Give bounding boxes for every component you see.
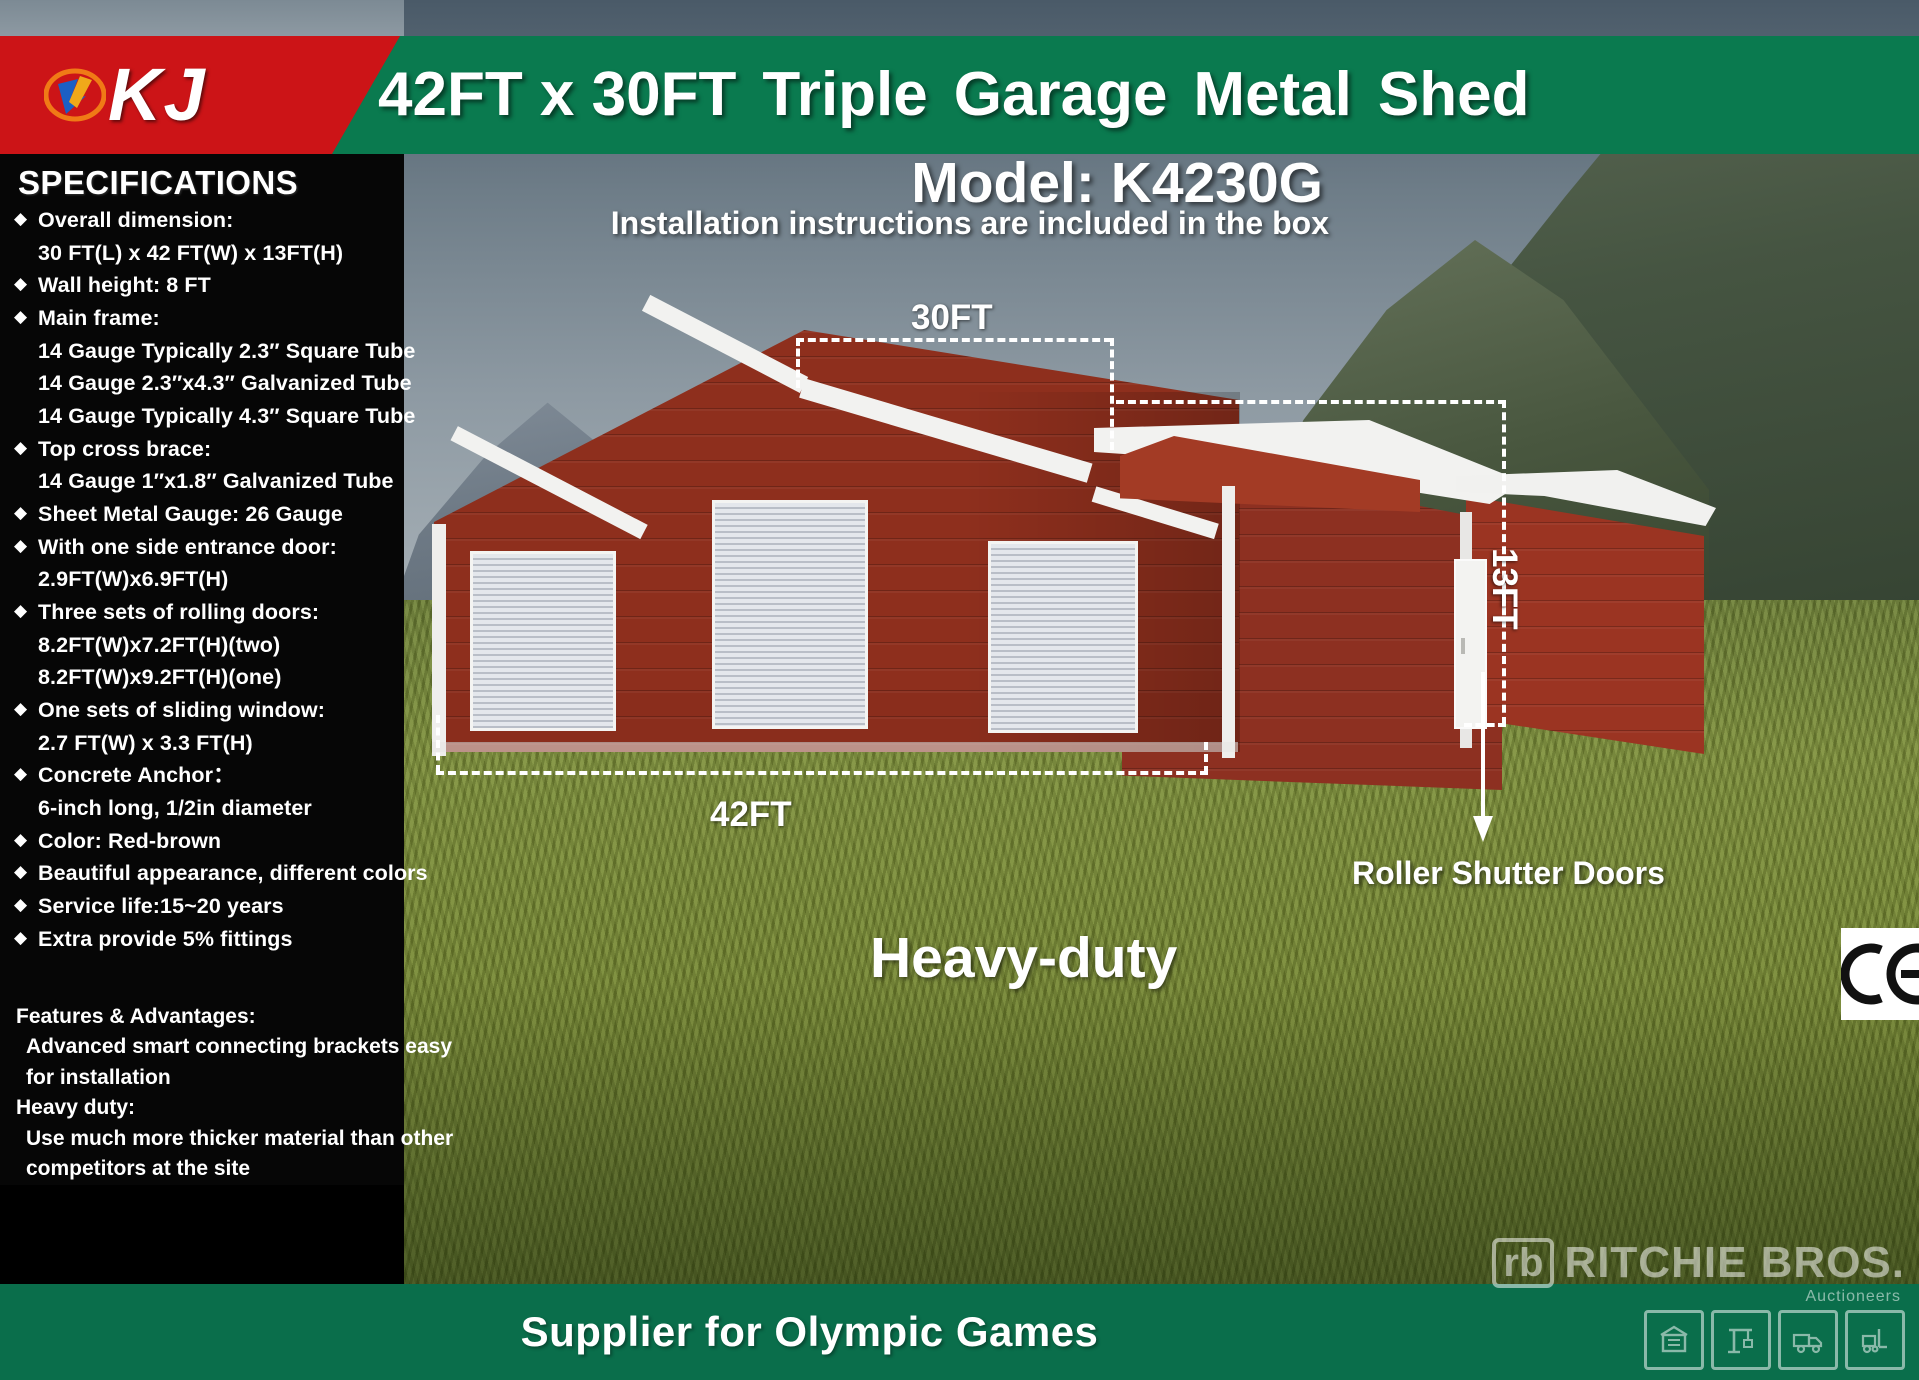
- roller-shutter-door-left: [470, 551, 616, 731]
- ritchie-bros-watermark: rb RITCHIE BROS. Auctioneers: [1492, 1238, 1905, 1370]
- dim-label-13ft: 13FT: [1484, 548, 1524, 630]
- spec-text: 8.2FT(W)x7.2FT(H)(two): [38, 629, 280, 662]
- dim-13ft-top-line: [1116, 400, 1506, 404]
- spec-bullet-row: ◆Three sets of rolling doors:: [14, 596, 406, 629]
- spec-bullet-row: ◆ With one side entrance door:: [14, 531, 406, 564]
- dim-30ft-right-tick: [1110, 338, 1114, 450]
- dim-42ft-line: [436, 771, 1208, 775]
- watermark-brand-name: RITCHIE BROS.: [1564, 1238, 1905, 1288]
- heavy-duty-heading: Heavy duty:: [16, 1093, 408, 1123]
- spec-subline: 14 Gauge 1″x1.8″ Galvanized Tube: [14, 465, 406, 498]
- spec-text: 30 FT(L) x 42 FT(W) x 13FT(H): [38, 237, 343, 270]
- page-title: 42FT x 30FTTripleGarageMetalShed: [378, 64, 1530, 126]
- roller-slat-texture: [473, 554, 613, 728]
- spec-text: 14 Gauge 2.3″x4.3″ Galvanized Tube: [38, 367, 412, 400]
- watermark-icon-row: [1644, 1310, 1905, 1370]
- heavy-duty-body-line-2: competitors at the site: [16, 1154, 408, 1184]
- brand-name: KJ: [108, 58, 207, 132]
- watermark-logo-row: rb RITCHIE BROS.: [1492, 1238, 1905, 1288]
- diamond-bullet-icon: ◆: [14, 857, 34, 886]
- title-seg-1: Triple: [762, 60, 927, 129]
- dim-label-30ft: 30FT: [911, 298, 993, 338]
- spec-subline: 30 FT(L) x 42 FT(W) x 13FT(H): [14, 237, 406, 270]
- spec-bullet-row: ◆Color: Red-brown: [14, 825, 406, 858]
- spec-text: 2.7 FT(W) x 3.3 FT(H): [38, 727, 253, 760]
- diamond-bullet-icon: ◆: [14, 433, 34, 462]
- diamond-bullet-icon: ◆: [14, 204, 34, 233]
- spec-text: 14 Gauge 1″x1.8″ Galvanized Tube: [38, 465, 394, 498]
- heavy-duty-headline: Heavy-duty: [870, 925, 1177, 991]
- roller-slat-texture: [991, 544, 1135, 730]
- forklift-icon: [1845, 1310, 1905, 1370]
- roller-door-callout-label: Roller Shutter Doors: [1352, 855, 1665, 892]
- features-advantages-block: Features & Advantages: Advanced smart co…: [16, 1002, 408, 1185]
- dim-42ft-right-tick: [1204, 742, 1208, 774]
- spec-bullet-row: ◆Wall height: 8 FT: [14, 269, 406, 302]
- spec-text: Overall dimension:: [38, 204, 233, 237]
- crane-icon: [1711, 1310, 1771, 1370]
- spec-bullet-row: ◆Top cross brace:: [14, 433, 406, 466]
- spec-text: Beautiful appearance, different colors: [38, 857, 428, 890]
- heavy-duty-body-line-1: Use much more thicker material than othe…: [16, 1124, 408, 1154]
- title-seg-0: 42FT x 30FT: [378, 60, 736, 129]
- spec-text: 6-inch long, 1/2in diameter: [38, 792, 312, 825]
- spec-text: Wall height: 8 FT: [38, 269, 211, 302]
- spec-text: Service life:15~20 years: [38, 890, 284, 923]
- features-heading: Features & Advantages:: [16, 1002, 408, 1032]
- spec-text: Concrete Anchor：: [38, 759, 235, 792]
- header-bar: KJ 42FT x 30FTTripleGarageMetalShed: [0, 36, 1919, 154]
- diamond-bullet-icon: ◆: [14, 694, 34, 723]
- spec-text: 2.9FT(W)x6.9FT(H): [38, 563, 228, 596]
- specifications-list: ◆Overall dimension:30 FT(L) x 42 FT(W) x…: [14, 204, 406, 955]
- dim-label-42ft: 42FT: [710, 795, 792, 835]
- features-body-line-2: for installation: [16, 1063, 408, 1093]
- diamond-bullet-icon: ◆: [14, 498, 34, 527]
- spec-subline: 2.9FT(W)x6.9FT(H): [14, 563, 406, 596]
- spec-bullet-row: ◆Service life:15~20 years: [14, 890, 406, 923]
- dim-42ft-left-tick: [436, 715, 440, 773]
- spec-bullet-row: ◆Overall dimension:: [14, 204, 406, 237]
- diamond-bullet-icon: ◆: [14, 302, 34, 331]
- watermark-subtitle: Auctioneers: [1806, 1288, 1902, 1306]
- spec-text: One sets of sliding window:: [38, 694, 325, 727]
- rb-badge-icon: rb: [1492, 1238, 1554, 1288]
- specifications-heading: SPECIFICATIONS: [18, 164, 298, 202]
- spec-subline: 2.7 FT(W) x 3.3 FT(H): [14, 727, 406, 760]
- spec-text: 8.2FT(W)x9.2FT(H)(one): [38, 661, 281, 694]
- diamond-bullet-icon: ◆: [14, 596, 34, 625]
- diamond-bullet-icon: ◆: [14, 825, 34, 854]
- spec-bullet-row: ◆Concrete Anchor：: [14, 759, 406, 792]
- title-seg-3: Metal: [1193, 60, 1351, 129]
- product-poster: 30FT 13FT 42FT Roller Shutter Doors Mode…: [0, 0, 1919, 1380]
- dim-30ft-left-tick: [796, 338, 800, 388]
- diamond-bullet-icon: ◆: [14, 923, 34, 952]
- building-icon: [1644, 1310, 1704, 1370]
- spec-text: With one side entrance door:: [38, 531, 337, 564]
- diamond-bullet-icon: ◆: [14, 531, 34, 560]
- roller-slat-texture: [715, 503, 865, 726]
- spec-text: Main frame:: [38, 302, 160, 335]
- spec-text: 14 Gauge Typically 4.3″ Square Tube: [38, 400, 415, 433]
- spec-bullet-row: ◆Beautiful appearance, different colors: [14, 857, 406, 890]
- installation-note: Installation instructions are included i…: [611, 205, 1329, 242]
- ce-mark-icon: [1841, 928, 1919, 1020]
- spec-bullet-row: ◆Sheet Metal Gauge: 26 Gauge: [14, 498, 406, 531]
- features-body-line-1: Advanced smart connecting brackets easy: [16, 1032, 408, 1062]
- roller-shutter-door-center: [712, 500, 868, 729]
- roller-door-arrow-icon: [1468, 672, 1498, 847]
- spec-subline: 6-inch long, 1/2in diameter: [14, 792, 406, 825]
- truck-icon: [1778, 1310, 1838, 1370]
- roller-shutter-door-right: [988, 541, 1138, 733]
- spec-text: Color: Red-brown: [38, 825, 221, 858]
- specifications-panel: SPECIFICATIONS ◆Overall dimension:30 FT(…: [0, 146, 404, 1185]
- entrance-door-handle: [1461, 638, 1465, 654]
- corner-trim-center: [1222, 486, 1235, 758]
- spec-subline: 14 Gauge Typically 2.3″ Square Tube: [14, 335, 406, 368]
- dim-30ft-line: [796, 338, 1112, 342]
- spec-text: Top cross brace:: [38, 433, 211, 466]
- diamond-bullet-icon: ◆: [14, 890, 34, 919]
- spec-text: Sheet Metal Gauge: 26 Gauge: [38, 498, 343, 531]
- spec-text: Extra provide 5% fittings: [38, 923, 293, 956]
- title-seg-4: Shed: [1378, 60, 1530, 129]
- diamond-bullet-icon: ◆: [14, 759, 34, 788]
- spec-subline: 14 Gauge Typically 4.3″ Square Tube: [14, 400, 406, 433]
- spec-subline: 14 Gauge 2.3″x4.3″ Galvanized Tube: [14, 367, 406, 400]
- spec-bullet-row: ◆Extra provide 5% fittings: [14, 923, 406, 956]
- title-seg-2: Garage: [954, 60, 1168, 129]
- spec-bullet-row: ◆Main frame:: [14, 302, 406, 335]
- diamond-bullet-icon: ◆: [14, 269, 34, 298]
- spec-subline: 8.2FT(W)x7.2FT(H)(two): [14, 629, 406, 662]
- kj-swoosh-logo-icon: [44, 66, 106, 124]
- spec-subline: 8.2FT(W)x9.2FT(H)(one): [14, 661, 406, 694]
- base-trim-front: [432, 742, 1238, 752]
- spec-text: 14 Gauge Typically 2.3″ Square Tube: [38, 335, 415, 368]
- product-photo: 30FT 13FT 42FT Roller Shutter Doors Mode…: [404, 0, 1919, 1310]
- spec-text: Three sets of rolling doors:: [38, 596, 319, 629]
- spec-bullet-row: ◆One sets of sliding window:: [14, 694, 406, 727]
